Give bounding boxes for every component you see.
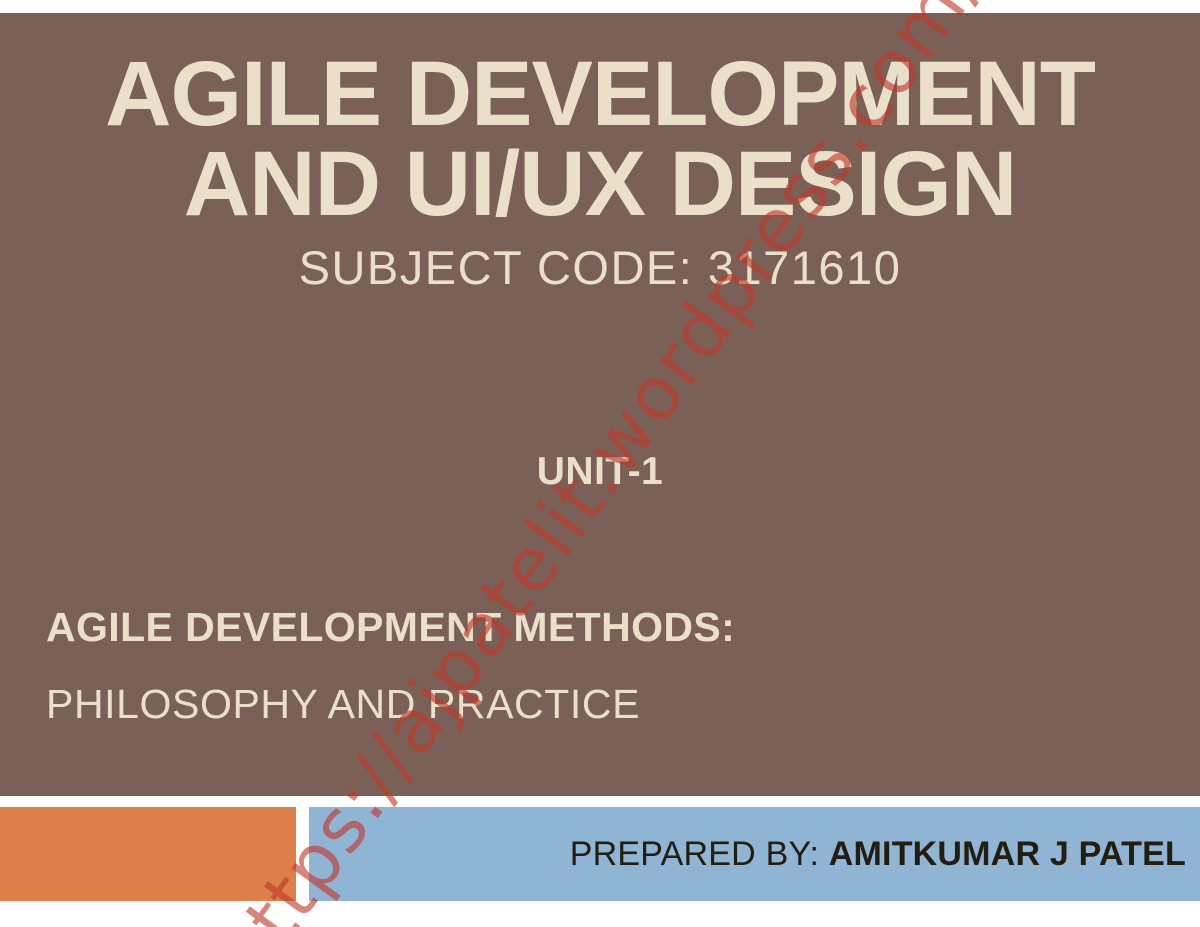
prepared-by-line: PREPARED BY: AMITKUMAR J PATEL — [570, 835, 1186, 874]
title-hero-panel: AGILE DEVELOPMENT AND UI/UX DESIGN SUBJE… — [0, 13, 1200, 796]
title-block: AGILE DEVELOPMENT AND UI/UX DESIGN SUBJE… — [0, 49, 1200, 293]
page-title: AGILE DEVELOPMENT AND UI/UX DESIGN — [0, 49, 1200, 229]
methods-heading: AGILE DEVELOPMENT METHODS: — [46, 605, 735, 650]
subject-code: SUBJECT CODE: 3171610 — [0, 243, 1200, 292]
unit-label: UNIT-1 — [0, 450, 1200, 494]
body-block: AGILE DEVELOPMENT METHODS: PHILOSOPHY AN… — [46, 605, 735, 727]
footer-orange-block — [0, 807, 296, 901]
methods-subheading: PHILOSOPHY AND PRACTICE — [46, 682, 735, 727]
footer-blue-block: PREPARED BY: AMITKUMAR J PATEL — [309, 807, 1200, 901]
presentation-slide: AGILE DEVELOPMENT AND UI/UX DESIGN SUBJE… — [0, 0, 1200, 927]
title-line-1: AGILE DEVELOPMENT — [105, 43, 1095, 145]
title-line-2: AND UI/UX DESIGN — [70, 139, 1130, 229]
prepared-by-label: PREPARED BY: — [570, 835, 819, 873]
author-name: AMITKUMAR J PATEL — [829, 835, 1186, 873]
